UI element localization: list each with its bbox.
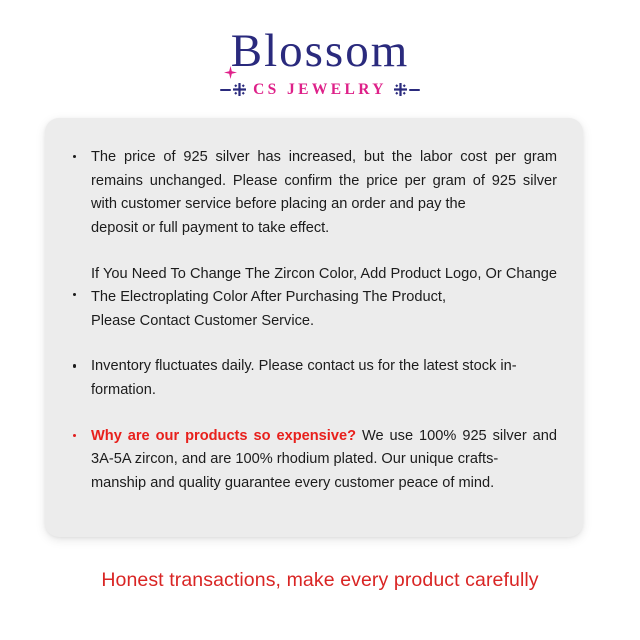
brand-wordmark: Blossom bbox=[223, 28, 418, 76]
brand-subtitle-row: CS JEWELRY bbox=[0, 81, 640, 99]
list-item-customization-notice: If You Need To Change The Zircon Color, … bbox=[69, 263, 557, 334]
notice-text-last-line: manship and quality guarantee every cust… bbox=[91, 472, 557, 496]
ornament-dash-right bbox=[409, 89, 420, 91]
notice-text: Inventory fluctuates daily. Please conta… bbox=[91, 358, 517, 374]
notice-text: If You Need To Change The Zircon Color, … bbox=[91, 266, 557, 306]
list-item-inventory-notice: Inventory fluctuates daily. Please conta… bbox=[69, 355, 557, 402]
bullet-icon bbox=[73, 434, 76, 437]
notice-text-last-line: Please Contact Customer Service. bbox=[91, 310, 557, 334]
bullet-icon bbox=[73, 364, 76, 367]
list-item-price-notice: The price of 925 silver has increased, b… bbox=[69, 146, 557, 241]
notice-card: The price of 925 silver has increased, b… bbox=[45, 118, 583, 537]
notice-list: The price of 925 silver has increased, b… bbox=[69, 146, 557, 496]
brand-header: Blossom CS JEWELRY bbox=[0, 28, 640, 99]
snowflake-ornament-icon-left bbox=[220, 82, 247, 97]
notice-text-last-line: formation. bbox=[91, 379, 557, 403]
brand-subtitle-text: CS JEWELRY bbox=[253, 81, 387, 99]
brand-name-text: Blossom bbox=[231, 25, 410, 77]
bullet-icon bbox=[73, 155, 76, 158]
notice-text-last-line: deposit or full payment to take effect. bbox=[91, 217, 557, 241]
bullet-icon bbox=[73, 293, 76, 296]
footer-tagline: Honest transactions, make every product … bbox=[0, 569, 640, 592]
snowflake-ornament-icon-right bbox=[393, 82, 420, 97]
notice-highlight-question: Why are our products so expensive? bbox=[91, 428, 356, 444]
list-item-pricing-explanation: Why are our products so expensive? We us… bbox=[69, 425, 557, 496]
ornament-dash-left bbox=[220, 89, 231, 91]
notice-text: The price of 925 silver has increased, b… bbox=[91, 149, 557, 212]
